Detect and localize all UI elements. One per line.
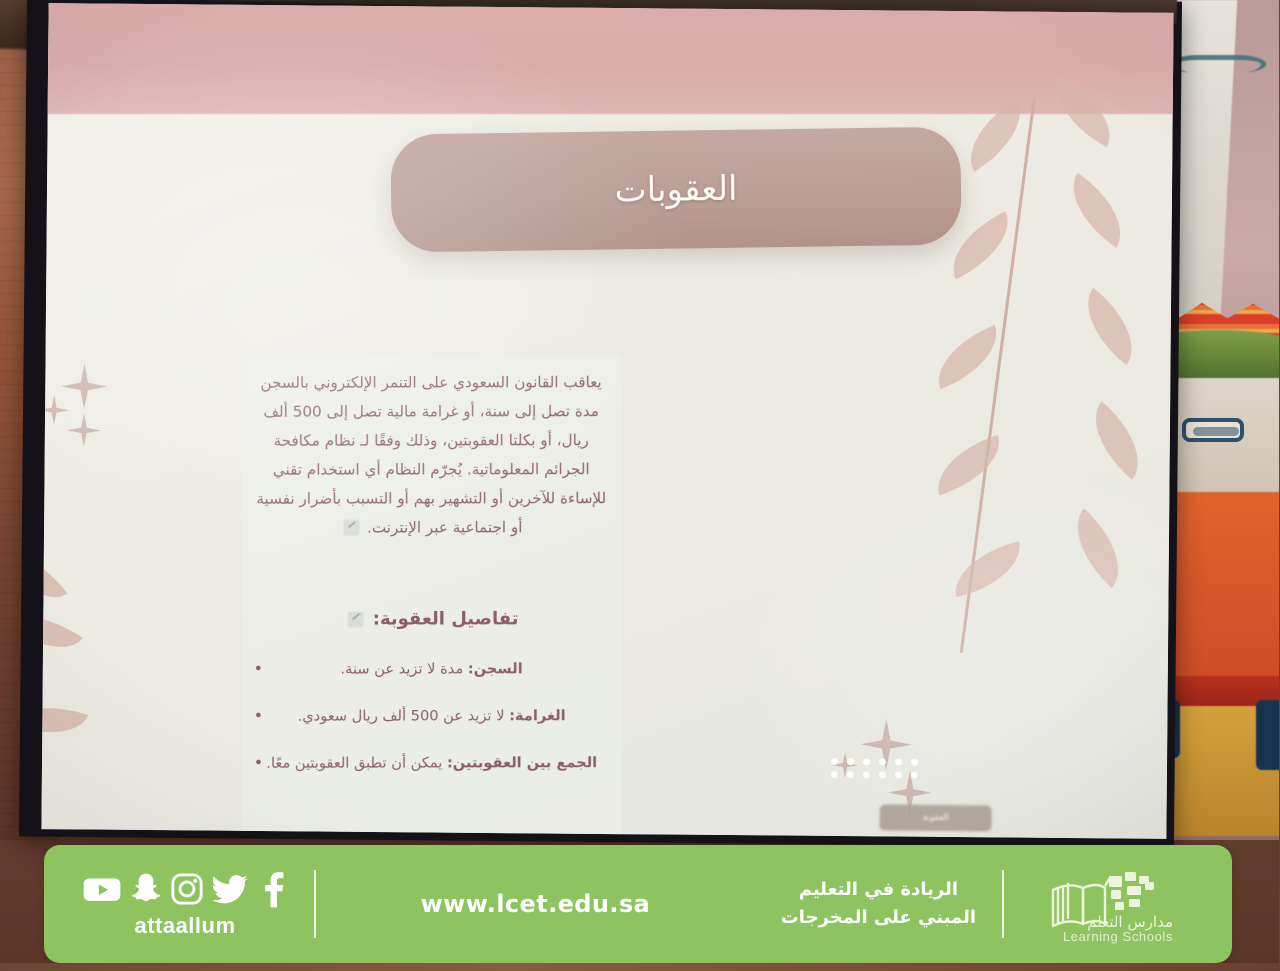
snapchat-icon[interactable]: [130, 869, 164, 909]
slide-title-pill: العقوبات: [391, 127, 963, 253]
slide-paragraph-text: يعاقب القانون السعودي على التنمر الإلكتر…: [257, 373, 607, 536]
book-logo-icon: مدارس التعلم Learning Schools: [1044, 868, 1172, 940]
footer-divider-left: [1003, 870, 1005, 938]
photo-bottom-edge: [0, 963, 1280, 971]
status-badge: العقوبة: [880, 804, 992, 831]
bullet-term: الجمع بين العقوبتين:: [448, 754, 598, 771]
facebook-icon[interactable]: [256, 869, 290, 909]
pencil-icon: [344, 520, 360, 536]
social-links: attaallum: [45, 869, 315, 939]
school-logo: مدارس التعلم Learning Schools: [1005, 868, 1233, 940]
bullet-detail: مدة لا تزيد عن سنة.: [341, 660, 464, 677]
footer-banner: مدارس التعلم Learning Schools الريادة في…: [45, 845, 1233, 963]
social-icon-row: [82, 869, 290, 909]
slide-title: العقوبات: [615, 169, 738, 211]
leaf-icon: [948, 541, 1029, 597]
penalty-detail-list: السجن: مدة لا تزيد عن سنة. الغرامة: لا ت…: [243, 656, 623, 798]
presentation-slide: العقوبات يعاقب القانون السعودي على التنم…: [42, 3, 1174, 839]
tagline-line-2: المبني على المخرجات: [782, 904, 977, 932]
pencil-icon: [348, 612, 364, 628]
tagline-line-1: الريادة في التعليم: [782, 876, 977, 904]
school-tagline: الريادة في التعليم المبني على المخرجات: [756, 876, 1003, 932]
list-item: السجن: مدة لا تزيد عن سنة.: [257, 656, 609, 682]
leaf-icon: [1069, 288, 1152, 365]
youtube-icon[interactable]: [82, 869, 124, 909]
footer-divider-right: [315, 870, 317, 938]
slide-subheading: تفاصيل العقوبة:: [242, 608, 622, 630]
list-item: الجمع بين العقوبتين: يمكن أن تطبق العقوب…: [257, 750, 609, 776]
leaf-icon: [1056, 173, 1140, 248]
bullet-term: الغرامة:: [510, 707, 567, 724]
leaf-icon: [1077, 401, 1159, 479]
slide-paragraph: يعاقب القانون السعودي على التنمر الإلكتر…: [242, 356, 622, 543]
instagram-icon[interactable]: [170, 869, 206, 909]
website-url[interactable]: www.lcet.edu.sa: [317, 890, 756, 918]
logo-arabic-name: مدارس التعلم: [1064, 915, 1174, 931]
list-item: الغرامة: لا تزيد عن 500 ألف ريال سعودي.: [257, 703, 609, 729]
slide-content-card: يعاقب القانون السعودي على التنمر الإلكتر…: [242, 356, 623, 837]
logo-english-name: Learning Schools: [1064, 930, 1174, 944]
bullet-detail: يمكن أن تطبق العقوبتين معًا.: [267, 754, 443, 771]
dot-grid-decoration: [829, 758, 919, 779]
slide-subheading-text: تفاصيل العقوبة:: [374, 608, 520, 629]
leaf-icon: [928, 435, 1011, 495]
bullet-detail: لا تزيد عن 500 ألف ريال سعودي.: [299, 707, 506, 724]
leaf-icon: [1058, 509, 1140, 588]
bullet-term: السجن:: [469, 660, 524, 677]
social-handle: attaallum: [135, 913, 236, 939]
twitter-icon[interactable]: [212, 869, 250, 909]
